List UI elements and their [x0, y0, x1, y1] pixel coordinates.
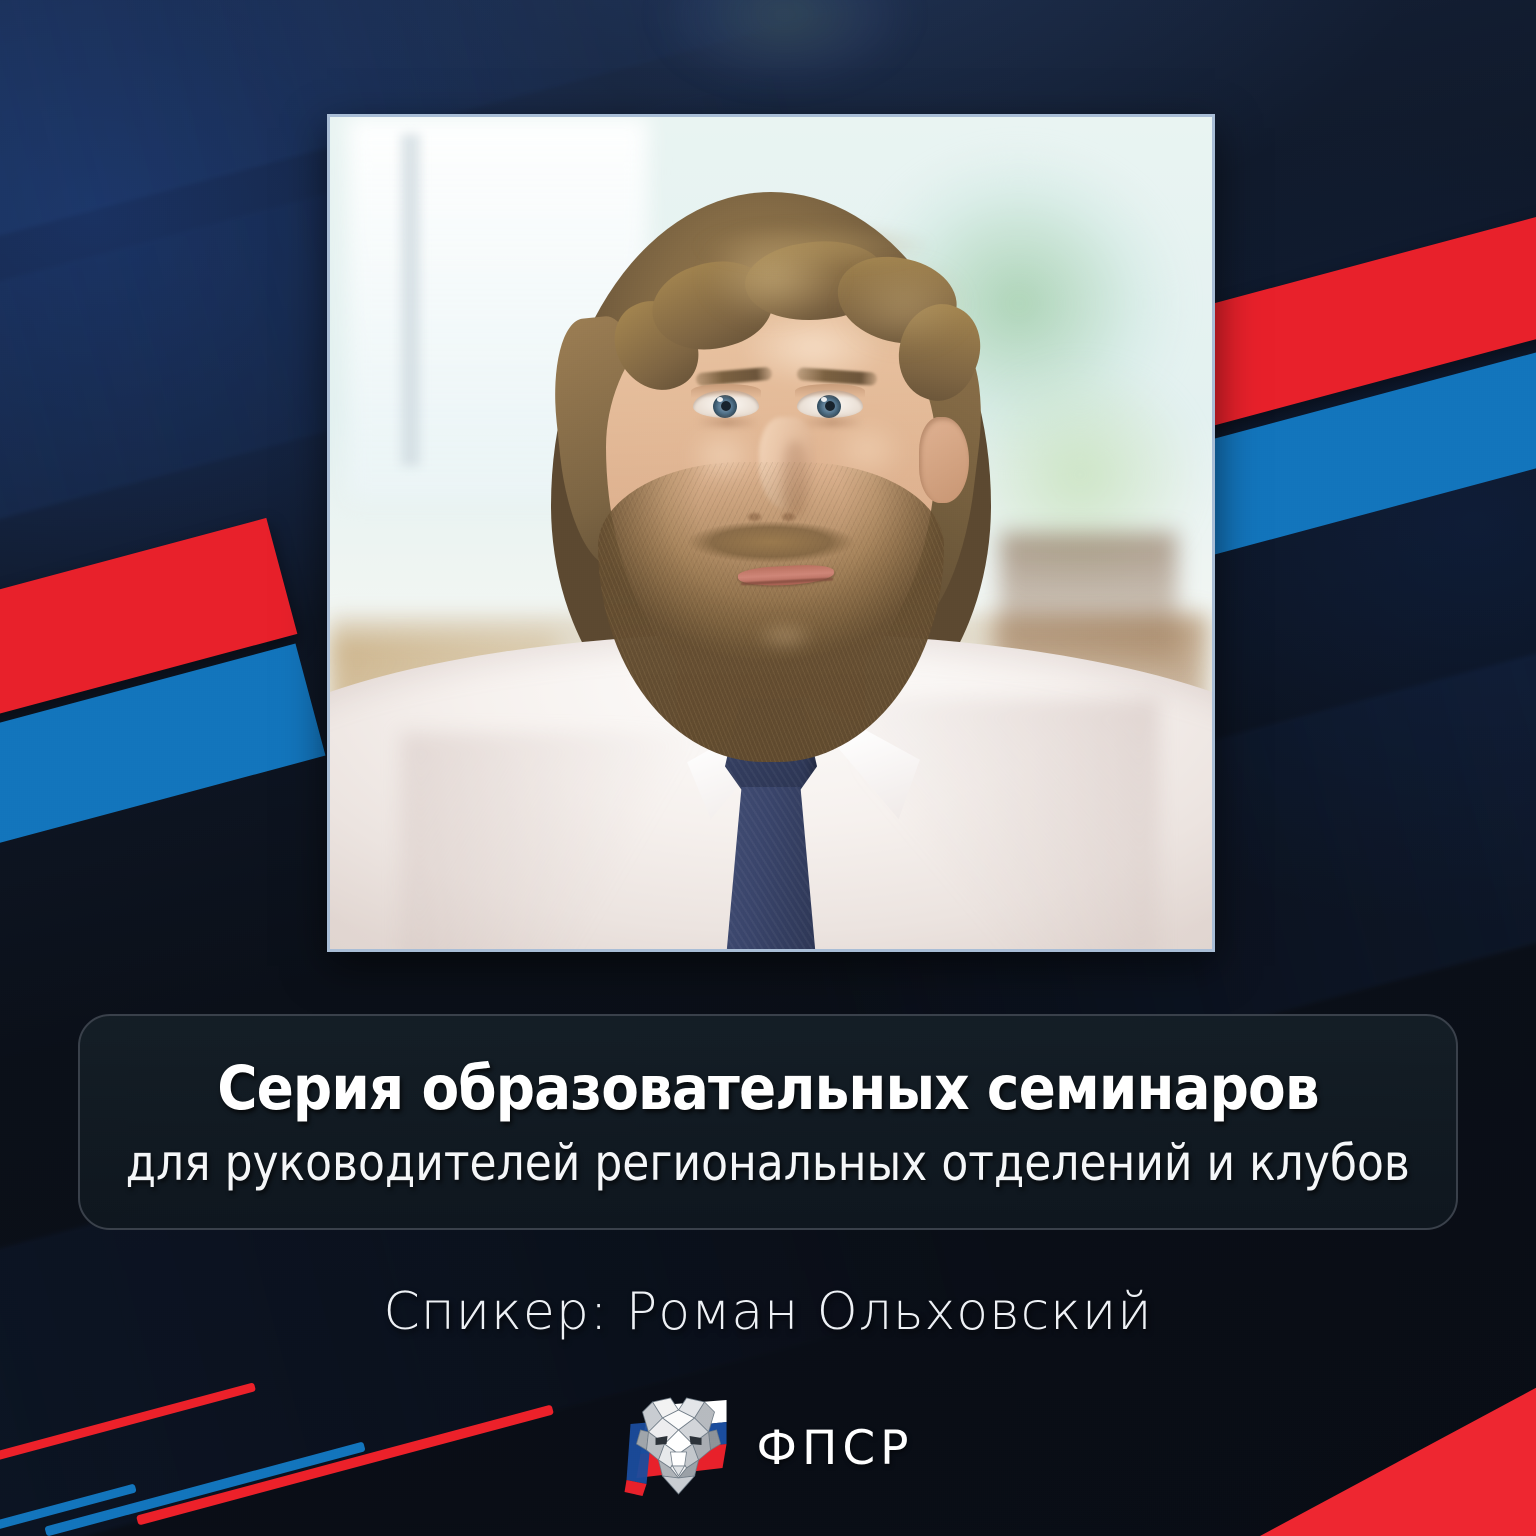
- poster-canvas: Серия образовательных семинаров для руко…: [0, 0, 1536, 1536]
- texture-overlay: [0, 0, 1536, 1536]
